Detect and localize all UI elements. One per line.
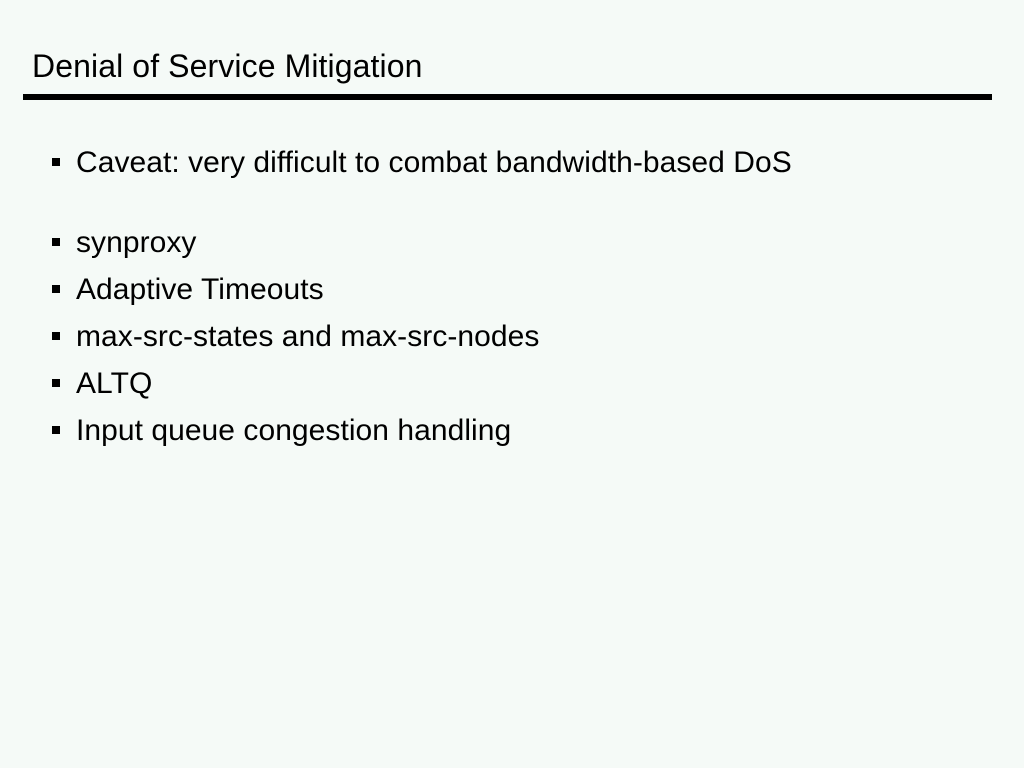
presentation-slide: Denial of Service Mitigation Caveat: ver… <box>0 0 1024 768</box>
list-item-label: Adaptive Timeouts <box>76 270 992 310</box>
list-item-label: Input queue congestion handling <box>76 411 992 451</box>
list-item: max-src-states and max-src-nodes <box>52 317 992 364</box>
list-item-label: synproxy <box>76 223 992 263</box>
list-item: Input queue congestion handling <box>52 411 992 458</box>
list-item-label: Caveat: very difficult to combat bandwid… <box>76 143 992 183</box>
square-bullet-icon <box>52 426 60 434</box>
square-bullet-icon <box>52 379 60 387</box>
list-item: ALTQ <box>52 364 992 411</box>
list-item: synproxy <box>52 223 992 270</box>
square-bullet-icon <box>52 332 60 340</box>
square-bullet-icon <box>52 285 60 293</box>
slide-title: Denial of Service Mitigation <box>32 47 423 85</box>
list-item: Caveat: very difficult to combat bandwid… <box>52 143 992 190</box>
bullet-list: Caveat: very difficult to combat bandwid… <box>52 143 992 458</box>
list-item-label: max-src-states and max-src-nodes <box>76 317 992 357</box>
list-item-label: ALTQ <box>76 364 992 404</box>
list-item: Adaptive Timeouts <box>52 270 992 317</box>
square-bullet-icon <box>52 238 60 246</box>
square-bullet-icon <box>52 158 60 166</box>
title-divider-rule <box>23 94 992 100</box>
